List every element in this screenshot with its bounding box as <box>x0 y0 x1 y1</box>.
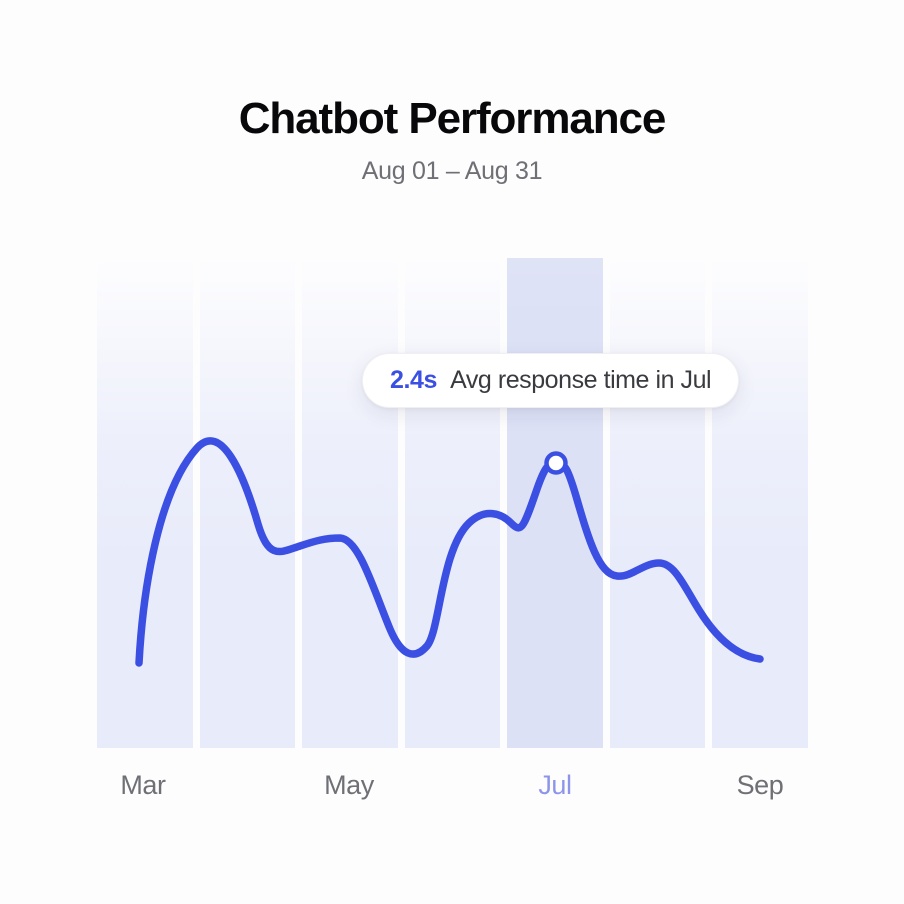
chart-plot-area <box>97 258 808 748</box>
date-range-label: Aug 01 – Aug 31 <box>0 156 904 186</box>
data-point-marker[interactable] <box>547 454 566 473</box>
page-title: Chatbot Performance <box>0 92 904 146</box>
tooltip-value: 2.4s <box>390 366 437 395</box>
tooltip-callout[interactable]: 2.4s Avg response time in Jul <box>362 353 739 408</box>
tooltip-label: Avg response time in Jul <box>450 366 711 395</box>
x-tick-sep[interactable]: Sep <box>737 768 784 802</box>
x-axis: Mar May Jul Sep <box>97 768 808 814</box>
x-tick-mar[interactable]: Mar <box>120 768 165 802</box>
line-series-path <box>139 441 760 663</box>
x-tick-jul[interactable]: Jul <box>538 768 571 802</box>
chart-header: Chatbot Performance Aug 01 – Aug 31 <box>0 92 904 186</box>
response-time-line-chart <box>97 258 808 748</box>
x-tick-may[interactable]: May <box>324 768 374 802</box>
chart-card: Chatbot Performance Aug 01 – Aug 31 2.4s… <box>0 0 904 904</box>
